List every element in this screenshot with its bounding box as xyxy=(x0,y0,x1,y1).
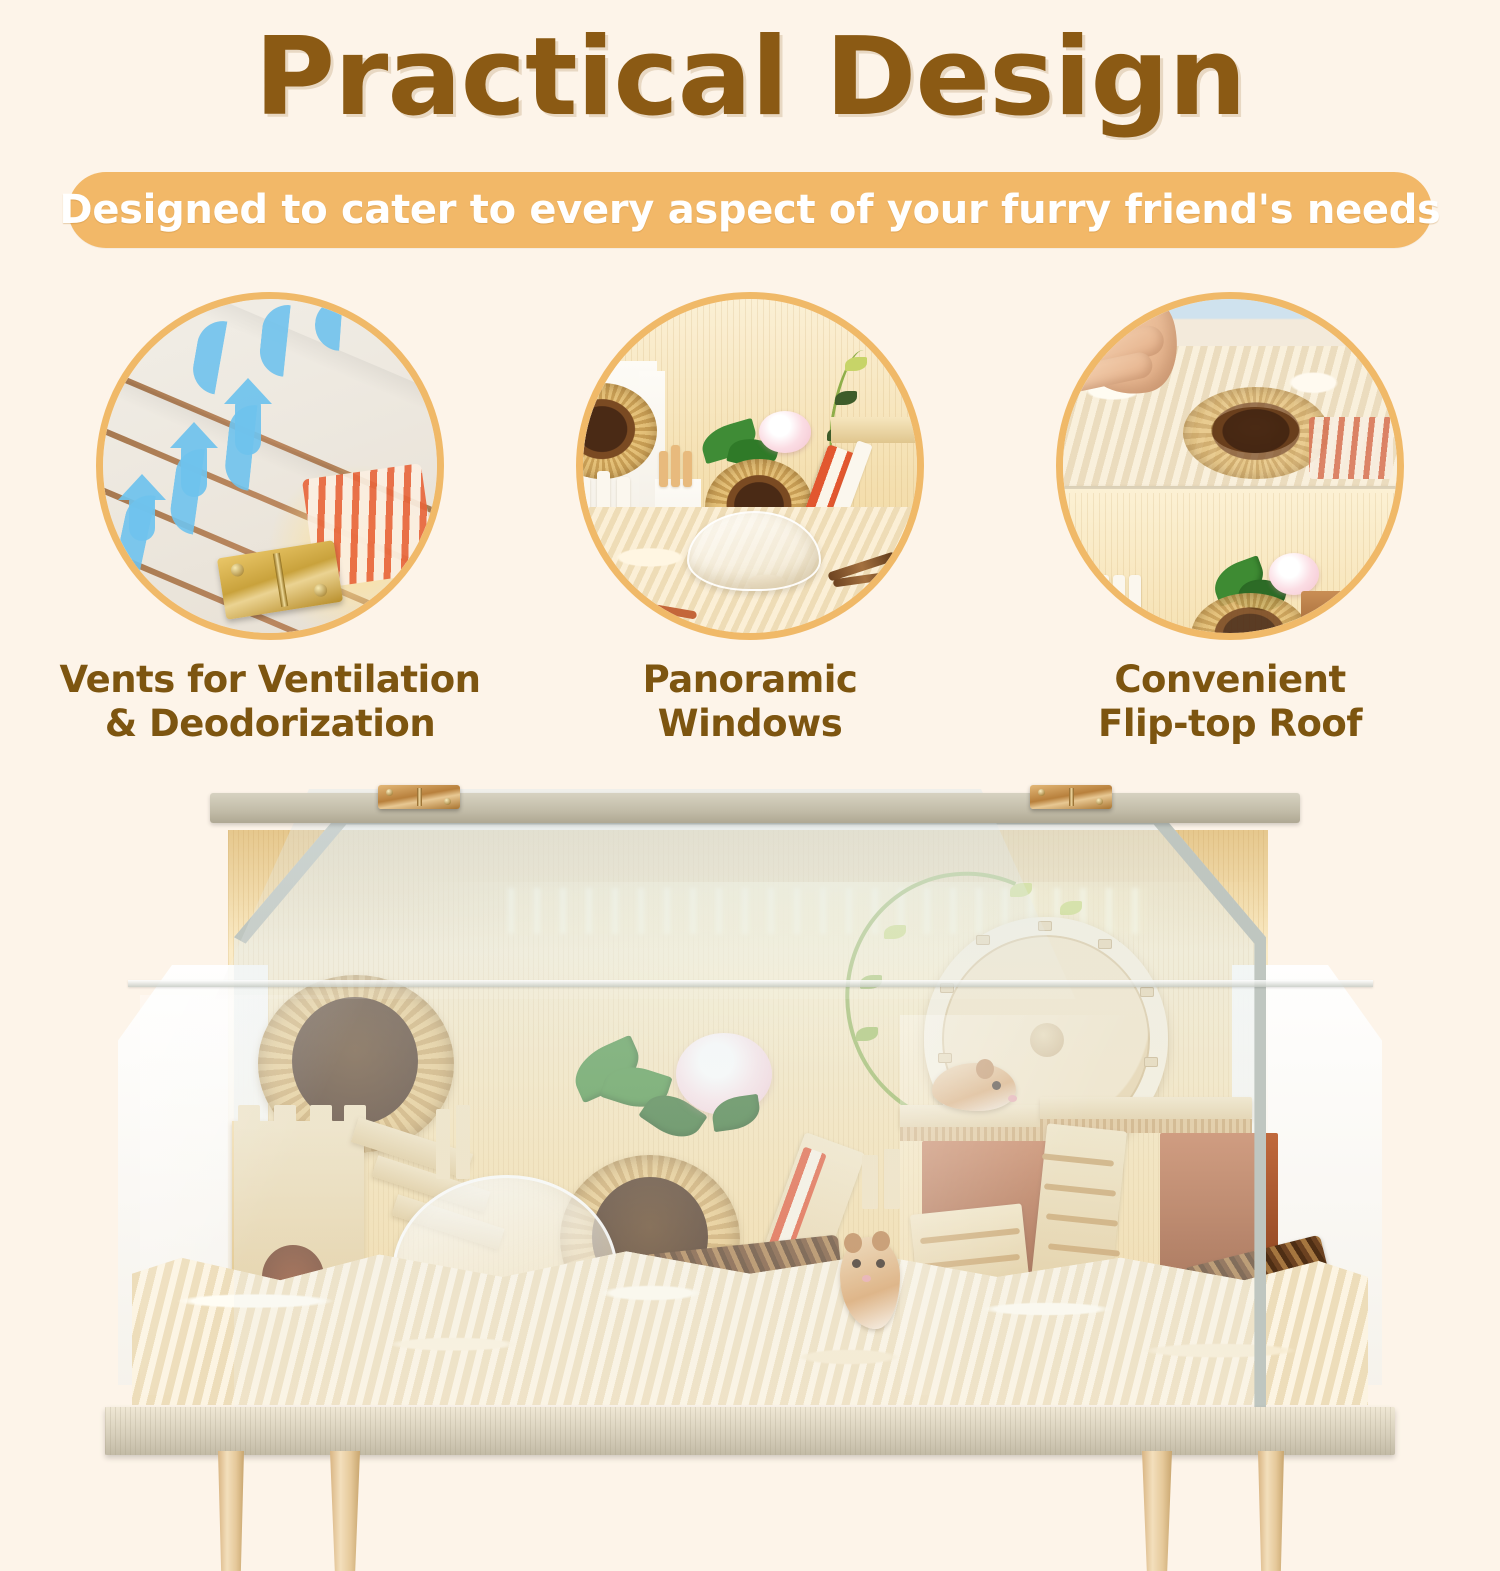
cabinet-leg xyxy=(1142,1451,1172,1571)
feature-caption-flip-top-roof: Convenient Flip-top Roof xyxy=(1000,658,1460,745)
feature-card-ventilation: Vents for Ventilation & Deodorization xyxy=(40,292,500,745)
cabinet-leg xyxy=(330,1451,360,1571)
caption-line-2: Flip-top Roof xyxy=(1000,702,1460,746)
caption-line-1: Convenient xyxy=(1000,658,1460,702)
feature-caption-ventilation: Vents for Ventilation & Deodorization xyxy=(40,658,500,745)
acrylic-divider-rail xyxy=(128,980,1373,987)
subtitle-banner: Designed to cater to every aspect of you… xyxy=(68,172,1432,248)
caption-line-2: & Deodorization xyxy=(40,702,500,746)
page-title: Practical Design xyxy=(0,24,1500,132)
feature-card-flip-top-roof: Convenient Flip-top Roof xyxy=(1000,292,1460,745)
feature-image-ventilation xyxy=(96,292,444,640)
roof-hinge-right xyxy=(1030,785,1112,809)
feature-image-flip-top-roof xyxy=(1056,292,1404,640)
cabinet-leg xyxy=(218,1451,244,1571)
cabinet-base-frame xyxy=(105,1407,1395,1455)
feature-caption-panoramic-windows: Panoramic Windows xyxy=(520,658,980,745)
caption-line-1: Panoramic xyxy=(520,658,980,702)
cabinet-leg xyxy=(1258,1451,1284,1571)
caption-line-1: Vents for Ventilation xyxy=(40,658,500,702)
feature-image-panoramic-windows xyxy=(576,292,924,640)
silk-flower-icon xyxy=(759,411,811,453)
infographic-page: Practical Design Designed to cater to ev… xyxy=(0,0,1500,1500)
flip-top-roof-lid[interactable] xyxy=(210,793,1300,823)
feature-row: Vents for Ventilation & Deodorization xyxy=(0,292,1500,772)
feature-card-panoramic-windows: Panoramic Windows xyxy=(520,292,980,745)
subtitle-text: Designed to cater to every aspect of you… xyxy=(59,187,1440,233)
roof-hinge-left xyxy=(378,785,460,809)
caption-line-2: Windows xyxy=(520,702,980,746)
product-hero-image xyxy=(0,775,1500,1500)
